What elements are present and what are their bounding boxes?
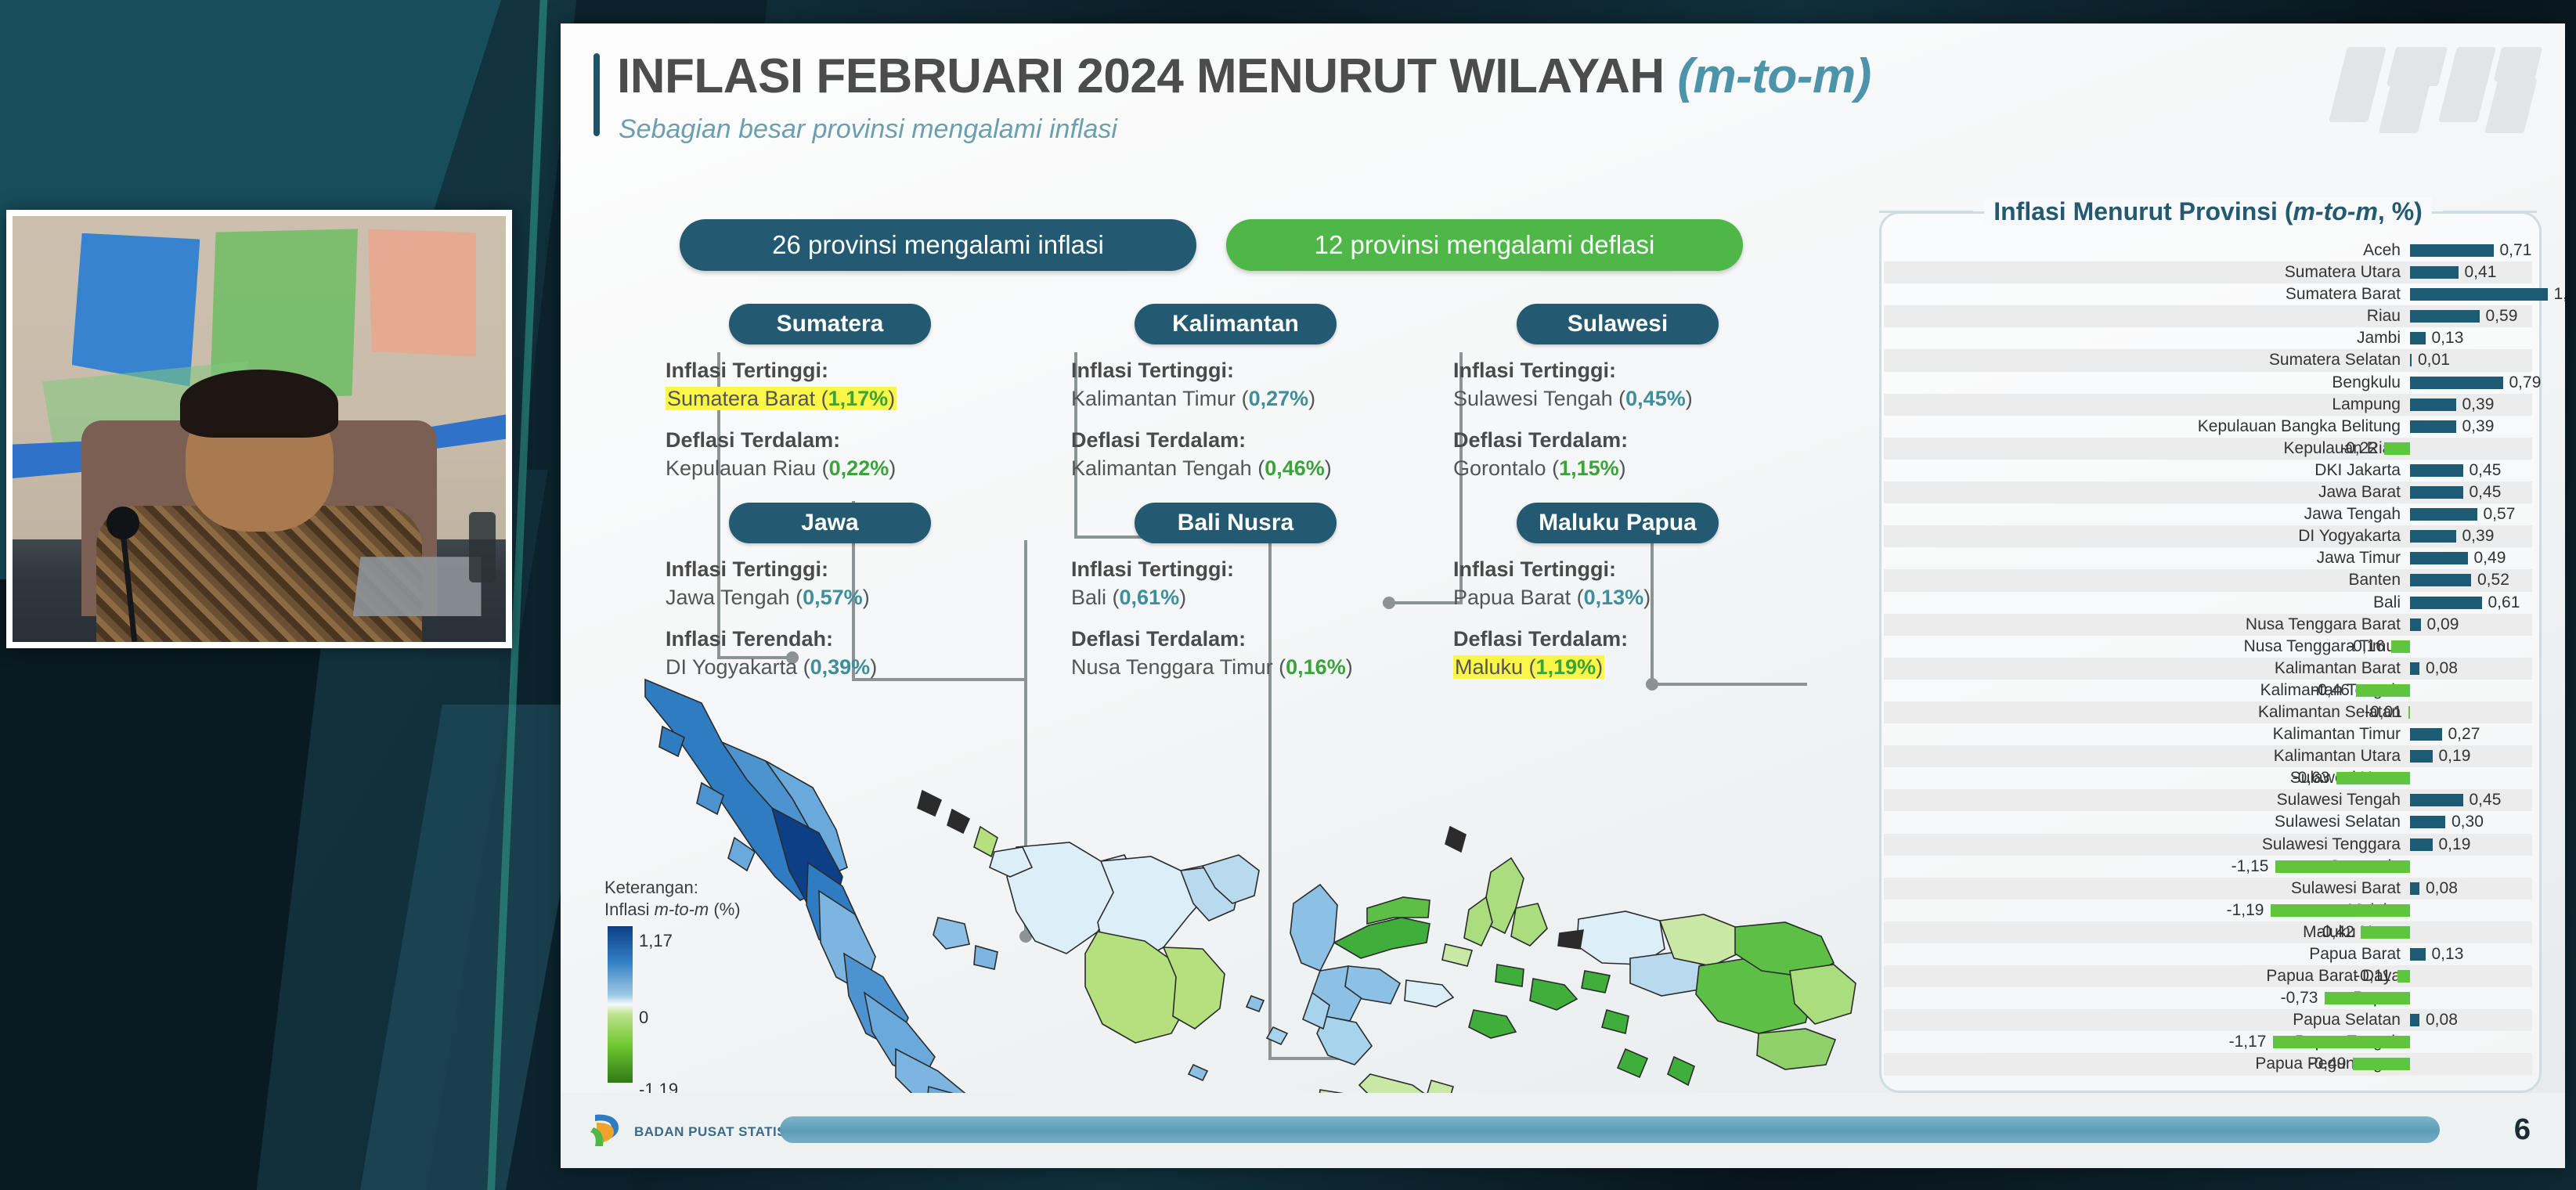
laptop	[353, 557, 482, 616]
chart-bar	[2410, 266, 2459, 279]
chart-row-label: DKI Jakarta	[2314, 461, 2401, 480]
chart-row: Lampung0,39	[1884, 394, 2532, 416]
chart-row: DKI Jakarta0,45	[1884, 460, 2532, 481]
chart-row: Kepulauan Riau-0,22	[1884, 438, 2532, 460]
chart-row-label: Sumatera Barat	[2286, 285, 2401, 304]
chart-row: Jawa Tengah0,57	[1884, 503, 2532, 525]
chart-row-label: Sumatera Selatan	[2269, 351, 2401, 370]
chart-row-label: Sulawesi Barat	[2291, 879, 2401, 898]
chart-row-label: Kalimantan Timur	[2273, 725, 2401, 744]
chart-value-label: 0,08	[2426, 659, 2458, 678]
chart-value-label: -0,46	[2312, 681, 2350, 700]
presenter-video-tile[interactable]	[6, 210, 512, 648]
region-chip-kalimantan: Kalimantan	[1135, 304, 1337, 344]
chart-row-label: Jambi	[2357, 329, 2401, 348]
chart-row: Banten0,52	[1884, 569, 2532, 591]
region-bottom-value: DI Yogyakarta (0,39%)	[666, 654, 994, 682]
chart-bar	[2273, 1036, 2411, 1048]
region-bottom-value: Gorontalo (1,15%)	[1453, 455, 1782, 483]
chart-row-label: Nusa Tenggara Barat	[2246, 615, 2401, 634]
chart-bar	[2336, 772, 2411, 784]
chart-bar	[2410, 552, 2468, 564]
chart-value-label: 0,61	[2488, 593, 2520, 612]
chart-value-label: 0,39	[2462, 417, 2495, 436]
chart-bar	[2410, 882, 2419, 895]
region-chip-sumatera: Sumatera	[729, 304, 931, 344]
badge-deflasi-count[interactable]: 12 provinsi mengalami deflasi	[1226, 219, 1743, 271]
chart-value-label: 0,19	[2439, 835, 2471, 854]
chart-value-label: -0,63	[2293, 769, 2330, 788]
chart-rows: Aceh0,71Sumatera Utara0,41Sumatera Barat…	[1884, 240, 2532, 1076]
page-title: INFLASI FEBRUARI 2024 MENURUT WILAYAH (m…	[617, 49, 1871, 104]
chart-row: Jawa Barat0,45	[1884, 481, 2532, 503]
chart-row: Sumatera Barat1,17	[1884, 283, 2532, 305]
chart-value-label: 0,45	[2470, 791, 2502, 810]
chart-row: Riau0,59	[1884, 305, 2532, 327]
chart-value-label: 0,01	[2418, 351, 2450, 370]
chart-title-rule-left	[1879, 211, 1973, 213]
chart-value-label: 0,71	[2500, 241, 2532, 260]
region-card-jawa[interactable]: Jawa Inflasi Tertinggi: Jawa Tengah (0,5…	[666, 503, 994, 696]
chart-value-label: -0,22	[2340, 439, 2378, 458]
legend-tick-mid: 0	[639, 1008, 648, 1028]
chart-row: Nusa Tenggara Barat0,09	[1884, 614, 2532, 636]
footer-progress-bar	[780, 1116, 2440, 1143]
chart-row: Kalimantan Tengah-0,46	[1884, 680, 2532, 701]
region-top-label: Inflasi Tertinggi:	[1453, 357, 1782, 385]
chart-row-label: Lampung	[2332, 395, 2401, 414]
chart-bar	[2410, 486, 2463, 499]
chart-row-label: Bengkulu	[2332, 373, 2401, 392]
page-subtitle: Sebagian besar provinsi mengalami inflas…	[619, 114, 1117, 145]
region-chip-jawa: Jawa	[729, 503, 931, 543]
chart-bar	[2410, 310, 2480, 323]
chart-bar	[2410, 618, 2421, 631]
region-bottom-label: Deflasi Terdalam:	[666, 427, 994, 455]
chart-value-label: 0,57	[2484, 505, 2516, 524]
chart-bar	[2410, 750, 2433, 763]
chart-bar	[2410, 464, 2463, 477]
region-card-kalimantan[interactable]: Kalimantan Inflasi Tertinggi: Kalimantan…	[1071, 304, 1400, 497]
chart-value-label: 0,52	[2477, 571, 2509, 590]
chart-value-label: -1,17	[2229, 1033, 2267, 1051]
region-bottom-value: Kalimantan Tengah (0,46%)	[1071, 455, 1400, 483]
bps-logo-watermark-icon	[2330, 39, 2540, 133]
region-bottom-label: Deflasi Terdalam:	[1071, 427, 1400, 455]
chart-bar	[2361, 926, 2410, 939]
region-top-value: Bali (0,61%)	[1071, 584, 1400, 612]
chart-value-label: 0,39	[2462, 527, 2495, 546]
chart-value-label: 0,79	[2509, 373, 2542, 392]
chart-value-label: -0,42	[2317, 923, 2354, 942]
chart-bar	[2410, 728, 2442, 741]
chart-value-label: -0,73	[2281, 989, 2318, 1008]
chart-row: Maluku Utara-0,42	[1884, 921, 2532, 943]
chart-row-label: DI Yogyakarta	[2298, 527, 2401, 546]
chart-bar	[2410, 948, 2426, 961]
chart-bar	[2410, 816, 2445, 828]
chart-bar	[2410, 794, 2463, 806]
region-card-sulawesi[interactable]: Sulawesi Inflasi Tertinggi: Sulawesi Ten…	[1453, 304, 1782, 497]
chart-row: Sulawesi Barat0,08	[1884, 878, 2532, 900]
chart-row-label: Banten	[2348, 571, 2401, 590]
region-top-value: Kalimantan Timur (0,27%)	[1071, 385, 1400, 413]
region-bottom-label: Deflasi Terdalam:	[1453, 427, 1782, 455]
chart-bar	[2410, 420, 2456, 433]
chart-value-label: -1,19	[2227, 901, 2264, 920]
chart-value-label: 0,49	[2474, 549, 2506, 568]
chart-row-label: Papua Barat	[2309, 945, 2401, 964]
chart-row-label: Kalimantan Utara	[2274, 747, 2401, 766]
chart-row: Sumatera Utara0,41	[1884, 261, 2532, 283]
chart-value-label: 1,17	[2554, 285, 2566, 304]
chart-bar	[2410, 662, 2419, 675]
chart-row: Papua Barat Daya-0,11	[1884, 965, 2532, 987]
chart-row-label: Jawa Tengah	[2304, 505, 2401, 524]
chart-value-label: 0,13	[2432, 945, 2464, 964]
chart-row-label: Aceh	[2363, 241, 2401, 260]
chart-title-rule-right	[2443, 211, 2537, 213]
bps-logo-icon	[587, 1110, 628, 1151]
chart-row-label: Sulawesi Selatan	[2275, 813, 2401, 831]
chart-value-label: 0,08	[2426, 879, 2458, 898]
region-chip-sulawesi: Sulawesi	[1517, 304, 1719, 344]
chart-value-label: 0,59	[2486, 307, 2518, 326]
chart-row: Sulawesi Utara-0,63	[1884, 767, 2532, 789]
chart-row: DI Yogyakarta0,39	[1884, 525, 2532, 547]
chart-bar	[2271, 904, 2411, 917]
legend-tick-max: 1,17	[639, 931, 673, 951]
chart-title: Inflasi Menurut Provinsi (m-to-m, %)	[1984, 197, 2432, 226]
region-card-maluku-papua[interactable]: Maluku Papua Inflasi Tertinggi: Papua Ba…	[1453, 503, 1782, 696]
chart-bar	[2410, 838, 2433, 851]
chart-row: Sulawesi Tengah0,45	[1884, 789, 2532, 811]
chart-bar	[2410, 354, 2412, 366]
chart-bar	[2410, 508, 2477, 521]
chart-row: Kalimantan Timur0,27	[1884, 723, 2532, 745]
chart-value-label: 0,08	[2426, 1011, 2458, 1030]
chart-bar	[2353, 1058, 2411, 1070]
region-top-label: Inflasi Tertinggi:	[1071, 556, 1400, 584]
chart-value-label: 0,45	[2470, 483, 2502, 502]
region-bottom-value: Nusa Tenggara Timur (0,16%)	[1071, 654, 1400, 682]
chart-bar	[2408, 706, 2410, 719]
region-top-value: Jawa Tengah (0,57%)	[666, 584, 994, 612]
chart-bar	[2410, 332, 2426, 344]
chart-row-label: Sumatera Utara	[2285, 263, 2401, 282]
chart-title-row: Inflasi Menurut Provinsi (m-to-m, %)	[1879, 188, 2537, 235]
chart-row: Gorontalo-1,15	[1884, 856, 2532, 878]
chart-value-label: 0,13	[2432, 329, 2464, 348]
chart-value-label: 0,27	[2448, 725, 2480, 744]
chart-row: Kalimantan Utara0,19	[1884, 745, 2532, 767]
chart-row: Sulawesi Selatan0,30	[1884, 811, 2532, 833]
title-mtom-text: (m-to-m)	[1677, 49, 1871, 103]
chart-row: Sulawesi Tenggara0,19	[1884, 834, 2532, 856]
chart-bar	[2275, 860, 2411, 873]
chart-row: Aceh0,71	[1884, 240, 2532, 261]
chart-value-label: 0,30	[2452, 813, 2484, 831]
chart-bar	[2325, 992, 2411, 1004]
chart-row-label: Bali	[2373, 593, 2401, 612]
chart-bar	[2391, 640, 2410, 653]
chart-row: Papua Barat0,13	[1884, 943, 2532, 965]
chart-bar	[2410, 597, 2482, 609]
legend-subtitle: Inflasi m-to-m (%)	[604, 899, 741, 921]
chart-row: Kepulauan Bangka Belitung0,39	[1884, 416, 2532, 438]
chart-bar	[2410, 530, 2456, 543]
chart-bar	[2397, 970, 2411, 983]
chart-bar	[2356, 684, 2410, 697]
title-accent-bar	[593, 53, 600, 136]
region-chip-maluku-papua: Maluku Papua	[1517, 503, 1719, 543]
chart-value-label: -1,15	[2231, 857, 2269, 876]
chart-row: Papua Selatan0,08	[1884, 1009, 2532, 1031]
chart-row: Bengkulu0,79	[1884, 372, 2532, 394]
badge-inflasi-count[interactable]: 26 provinsi mengalami inflasi	[680, 219, 1196, 271]
region-card-bali-nusra[interactable]: Bali Nusra Inflasi Tertinggi: Bali (0,61…	[1071, 503, 1400, 696]
chart-bar	[2410, 288, 2548, 301]
chart-row: Sumatera Selatan0,01	[1884, 349, 2532, 371]
chart-row: Kalimantan Barat0,08	[1884, 658, 2532, 680]
chart-value-label: 0,45	[2470, 461, 2502, 480]
slide-footer: BADAN PUSAT STATISTIK 6	[561, 1093, 2565, 1168]
indonesia-choropleth-map: Keterangan: Inflasi m-to-m (%) 1,17 0 -1…	[584, 642, 1868, 1120]
chart-row-label: Papua Selatan	[2293, 1011, 2401, 1030]
chart-row: Jawa Timur0,49	[1884, 547, 2532, 569]
chart-row: Nusa Tenggara Timur-0,16	[1884, 636, 2532, 658]
chart-bar	[2384, 442, 2410, 455]
chart-bar	[2410, 1014, 2419, 1026]
chart-value-label: 0,39	[2462, 395, 2495, 414]
presentation-slide: INFLASI FEBRUARI 2024 MENURUT WILAYAH (m…	[561, 23, 2565, 1168]
region-top-value: Papua Barat (0,13%)	[1453, 584, 1782, 612]
wall-art-blue	[72, 233, 200, 387]
chart-row: Maluku-1,19	[1884, 900, 2532, 921]
title-main-text: INFLASI FEBRUARI 2024 MENURUT WILAYAH	[617, 49, 1677, 103]
region-top-value: Sumatera Barat (1,17%)	[666, 385, 994, 413]
screen: INFLASI FEBRUARI 2024 MENURUT WILAYAH (m…	[0, 0, 2576, 1190]
chart-row-label: Kepulauan Bangka Belitung	[2198, 417, 2401, 436]
region-bottom-label: Inflasi Terendah:	[666, 626, 994, 654]
chart-row-label: Riau	[2367, 307, 2401, 326]
chart-bar	[2410, 574, 2471, 586]
region-card-sumatera[interactable]: Sumatera Inflasi Tertinggi: Sumatera Bar…	[666, 304, 994, 497]
region-chip-bali-nusra: Bali Nusra	[1135, 503, 1337, 543]
chart-row: Papua-0,73	[1884, 987, 2532, 1009]
region-top-label: Inflasi Tertinggi:	[1453, 556, 1782, 584]
chart-value-label: 0,09	[2427, 615, 2459, 634]
chart-row-label: Jawa Barat	[2318, 483, 2401, 502]
region-bottom-label: Deflasi Terdalam:	[1453, 626, 1782, 654]
chart-row-label: Sulawesi Tengah	[2277, 791, 2401, 810]
chart-value-label: -0,16	[2347, 637, 2385, 656]
region-bottom-value: Kepulauan Riau (0,22%)	[666, 455, 994, 483]
bottle	[469, 512, 496, 582]
video-frame	[13, 216, 506, 642]
chart-bar	[2410, 244, 2494, 257]
region-top-label: Inflasi Tertinggi:	[666, 357, 994, 385]
chart-row-label: Kalimantan Barat	[2275, 659, 2401, 678]
chart-value-label: 0,41	[2465, 263, 2497, 282]
region-top-label: Inflasi Tertinggi:	[666, 556, 994, 584]
region-bottom-label: Deflasi Terdalam:	[1071, 626, 1400, 654]
legend-color-ramp	[608, 926, 633, 1083]
chart-bar	[2410, 398, 2456, 411]
chart-bar	[2410, 377, 2503, 389]
chart-value-label: -0,49	[2309, 1055, 2347, 1073]
chart-row: Kalimantan Selatan-0,01	[1884, 701, 2532, 723]
presenter-hair	[180, 370, 338, 438]
region-top-label: Inflasi Tertinggi:	[1071, 357, 1400, 385]
wall-art-peach	[368, 229, 477, 356]
microphone-icon	[106, 507, 139, 539]
chart-row: Papua Tengah-1,17	[1884, 1031, 2532, 1053]
page-number: 6	[2514, 1113, 2531, 1147]
chart-row: Jambi0,13	[1884, 327, 2532, 349]
map-legend: Keterangan: Inflasi m-to-m (%) 1,17 0 -1…	[604, 877, 741, 1083]
chart-row-label: Sulawesi Tenggara	[2262, 835, 2401, 854]
legend-title: Keterangan:	[604, 877, 741, 899]
region-bottom-value: Maluku (1,19%)	[1453, 654, 1782, 682]
region-top-value: Sulawesi Tengah (0,45%)	[1453, 385, 1782, 413]
chart-row: Papua Pegunungan-0,49	[1884, 1053, 2532, 1075]
chart-row: Bali0,61	[1884, 592, 2532, 614]
chart-value-label: -0,11	[2354, 967, 2390, 986]
chart-value-label: 0,19	[2439, 747, 2471, 766]
chart-value-label: -0,01	[2365, 703, 2402, 722]
chart-row-label: Jawa Timur	[2317, 549, 2401, 568]
